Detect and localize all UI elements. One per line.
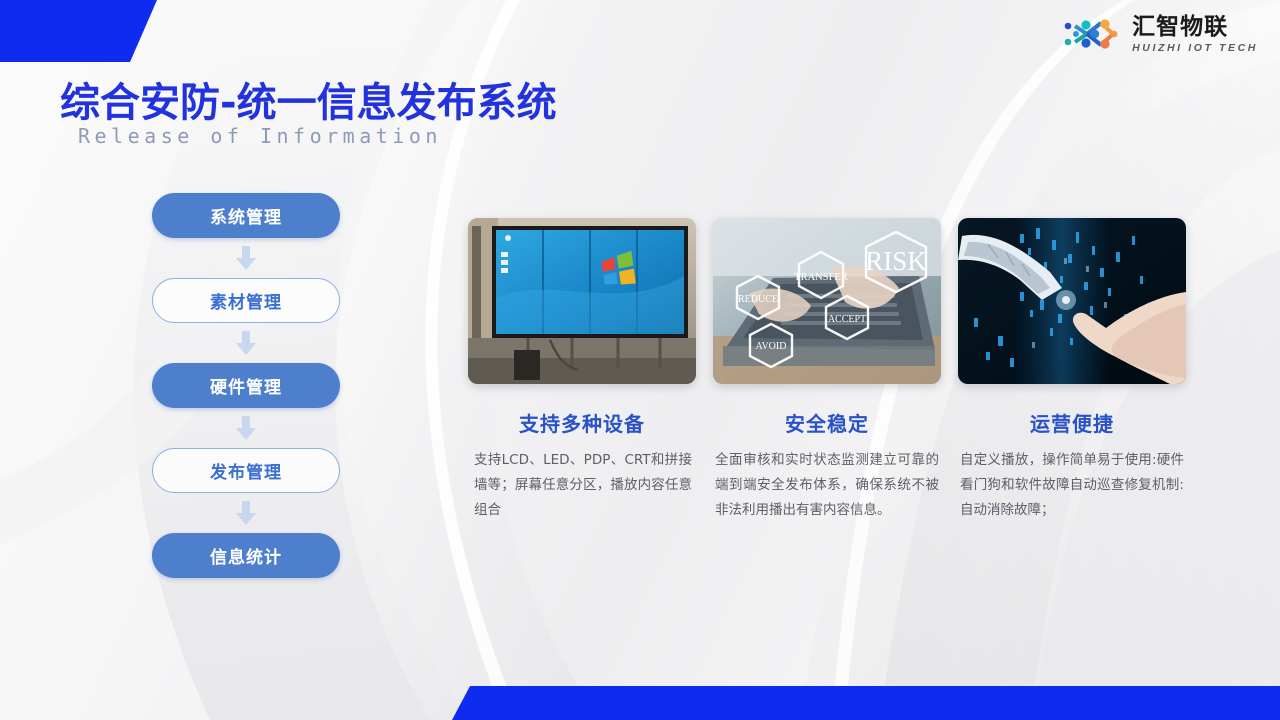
feature-card-3: 运营便捷 自定义播放，操作简单易于使用:硬件看门狗和软件故障自动巡查修复机制:自… [958, 218, 1186, 523]
arrow-down-icon [235, 330, 257, 356]
risk-hexagons-image: RISK TRANSFER REDUCE ACCEPT AVOID [713, 218, 941, 384]
flow-connector-4 [152, 493, 340, 533]
feature-card-1-body: 支持LCD、LED、PDP、CRT和拼接墙等；屏幕任意分区，播放内容任意组合 [468, 448, 696, 523]
svg-text:REDUCE: REDUCE [738, 294, 778, 305]
feature-card-2-title: 安全稳定 [713, 408, 941, 437]
flow-step-5[interactable]: 信息统计 [152, 533, 340, 578]
svg-text:AVOID: AVOID [756, 341, 787, 352]
process-flow: 系统管理 素材管理 硬件管理 发布管理 [152, 193, 340, 578]
arrow-down-icon [235, 245, 257, 271]
flow-connector-1 [152, 238, 340, 278]
flow-connector-3 [152, 408, 340, 448]
robot-human-hand-image [958, 218, 1186, 384]
brand-logo: 汇智物联 HUIZHI IOT TECH [1061, 14, 1258, 54]
feature-card-1-title: 支持多种设备 [468, 408, 696, 437]
brand-name-en: HUIZHI IOT TECH [1132, 43, 1258, 54]
feature-card-3-body: 自定义播放，操作简单易于使用:硬件看门狗和软件故障自动巡查修复机制:自动消除故障… [958, 448, 1186, 523]
flow-step-2[interactable]: 素材管理 [152, 278, 340, 323]
svg-text:TRANSFER: TRANSFER [794, 272, 848, 283]
arrow-down-icon [235, 415, 257, 441]
brand-name-cn: 汇智物联 [1132, 15, 1228, 38]
flow-step-3-label: 硬件管理 [210, 373, 282, 398]
flow-step-4[interactable]: 发布管理 [152, 448, 340, 493]
arrow-down-icon [235, 500, 257, 526]
molecule-nodes-icon [1061, 14, 1123, 54]
flow-step-1-label: 系统管理 [210, 203, 282, 228]
video-wall-image [468, 218, 696, 384]
slide-root: 汇智物联 HUIZHI IOT TECH 综合安防-统一信息发布系统 Relea… [0, 0, 1280, 720]
feature-card-list: 支持多种设备 支持LCD、LED、PDP、CRT和拼接墙等；屏幕任意分区，播放内… [468, 218, 1258, 523]
flow-step-2-label: 素材管理 [210, 288, 282, 313]
page-subtitle: Release of Information [78, 124, 442, 148]
flow-step-1[interactable]: 系统管理 [152, 193, 340, 238]
svg-text:RISK: RISK [865, 246, 927, 276]
brand-text: 汇智物联 HUIZHI IOT TECH [1132, 15, 1258, 54]
flow-connector-2 [152, 323, 340, 363]
svg-text:ACCEPT: ACCEPT [828, 314, 866, 325]
flow-step-4-label: 发布管理 [210, 458, 282, 483]
feature-card-2: RISK TRANSFER REDUCE ACCEPT AVOID 安全稳定 全… [713, 218, 941, 523]
flow-step-3[interactable]: 硬件管理 [152, 363, 340, 408]
feature-card-2-body: 全面审核和实时状态监测建立可靠的端到端安全发布体系，确保系统不被非法利用播出有害… [713, 448, 941, 523]
feature-card-1: 支持多种设备 支持LCD、LED、PDP、CRT和拼接墙等；屏幕任意分区，播放内… [468, 218, 696, 523]
feature-card-3-title: 运营便捷 [958, 408, 1186, 437]
page-title: 综合安防-统一信息发布系统 [60, 70, 557, 128]
flow-step-5-label: 信息统计 [210, 543, 282, 568]
